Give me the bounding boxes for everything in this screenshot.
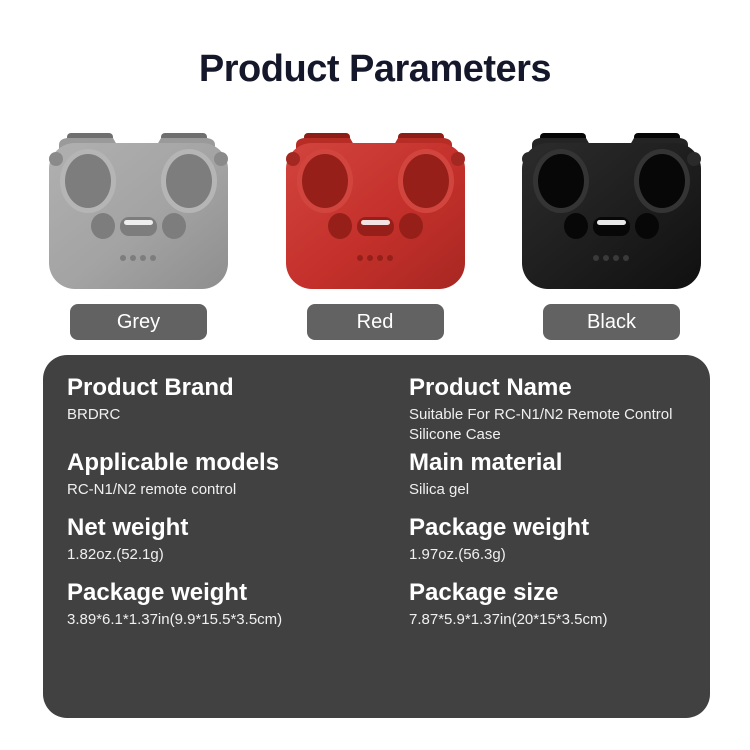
- rc-n1-remote-controller-silicone-case-icon: [270, 127, 481, 295]
- spec-key: Product Brand: [67, 373, 399, 402]
- spec-cell-main-material: Main material Silica gel: [409, 448, 710, 513]
- spec-value: Suitable For RC-N1/N2 Remote Control Sil…: [409, 405, 710, 445]
- spec-key: Package weight: [67, 578, 399, 607]
- spec-key: Main material: [409, 448, 710, 477]
- spec-value: 3.89*6.1*1.37in(9.9*15.5*3.5cm): [67, 610, 399, 630]
- spec-key: Applicable models: [67, 448, 399, 477]
- spec-key: Product Name: [409, 373, 710, 402]
- color-label-slot-red: Red: [270, 304, 481, 340]
- spec-value: 1.82oz.(52.1g): [67, 545, 399, 565]
- product-variants-row: [0, 127, 750, 299]
- color-labels-row: Grey Red Black: [0, 304, 750, 340]
- spec-cell-net-weight: Net weight 1.82oz.(52.1g): [67, 513, 409, 578]
- product-parameters-panel: Product Brand BRDRC Product Name Suitabl…: [43, 355, 710, 718]
- spec-key: Package weight: [409, 513, 710, 542]
- color-label-black[interactable]: Black: [543, 304, 680, 340]
- spec-key: Net weight: [67, 513, 399, 542]
- spec-cell-applicable-models: Applicable models RC-N1/N2 remote contro…: [67, 448, 409, 513]
- spec-row: Package weight 3.89*6.1*1.37in(9.9*15.5*…: [43, 578, 710, 643]
- spec-row: Applicable models RC-N1/N2 remote contro…: [43, 448, 710, 513]
- color-label-slot-black: Black: [506, 304, 717, 340]
- color-label-red[interactable]: Red: [307, 304, 444, 340]
- product-variant-grey[interactable]: [33, 127, 244, 299]
- spec-value: BRDRC: [67, 405, 399, 425]
- spec-cell-package-size: Package size 7.87*5.9*1.37in(20*15*3.5cm…: [409, 578, 710, 643]
- spec-value: 7.87*5.9*1.37in(20*15*3.5cm): [409, 610, 710, 630]
- color-label-grey[interactable]: Grey: [70, 304, 207, 340]
- spec-row: Net weight 1.82oz.(52.1g) Package weight…: [43, 513, 710, 578]
- spec-key: Package size: [409, 578, 710, 607]
- color-label-slot-grey: Grey: [33, 304, 244, 340]
- spec-cell-product-name: Product Name Suitable For RC-N1/N2 Remot…: [409, 373, 710, 448]
- rc-n1-remote-controller-silicone-case-icon: [33, 127, 244, 295]
- spec-value: RC-N1/N2 remote control: [67, 480, 399, 500]
- spec-value: 1.97oz.(56.3g): [409, 545, 710, 565]
- page-title: Product Parameters: [0, 48, 750, 91]
- spec-value: Silica gel: [409, 480, 710, 500]
- product-variant-red[interactable]: [270, 127, 481, 299]
- spec-cell-package-weight: Package weight 1.97oz.(56.3g): [409, 513, 710, 578]
- spec-cell-package-weight-dimensions: Package weight 3.89*6.1*1.37in(9.9*15.5*…: [67, 578, 409, 643]
- spec-row: Product Brand BRDRC Product Name Suitabl…: [43, 373, 710, 448]
- product-variant-black[interactable]: [506, 127, 717, 299]
- rc-n1-remote-controller-silicone-case-icon: [506, 127, 717, 295]
- spec-cell-product-brand: Product Brand BRDRC: [67, 373, 409, 448]
